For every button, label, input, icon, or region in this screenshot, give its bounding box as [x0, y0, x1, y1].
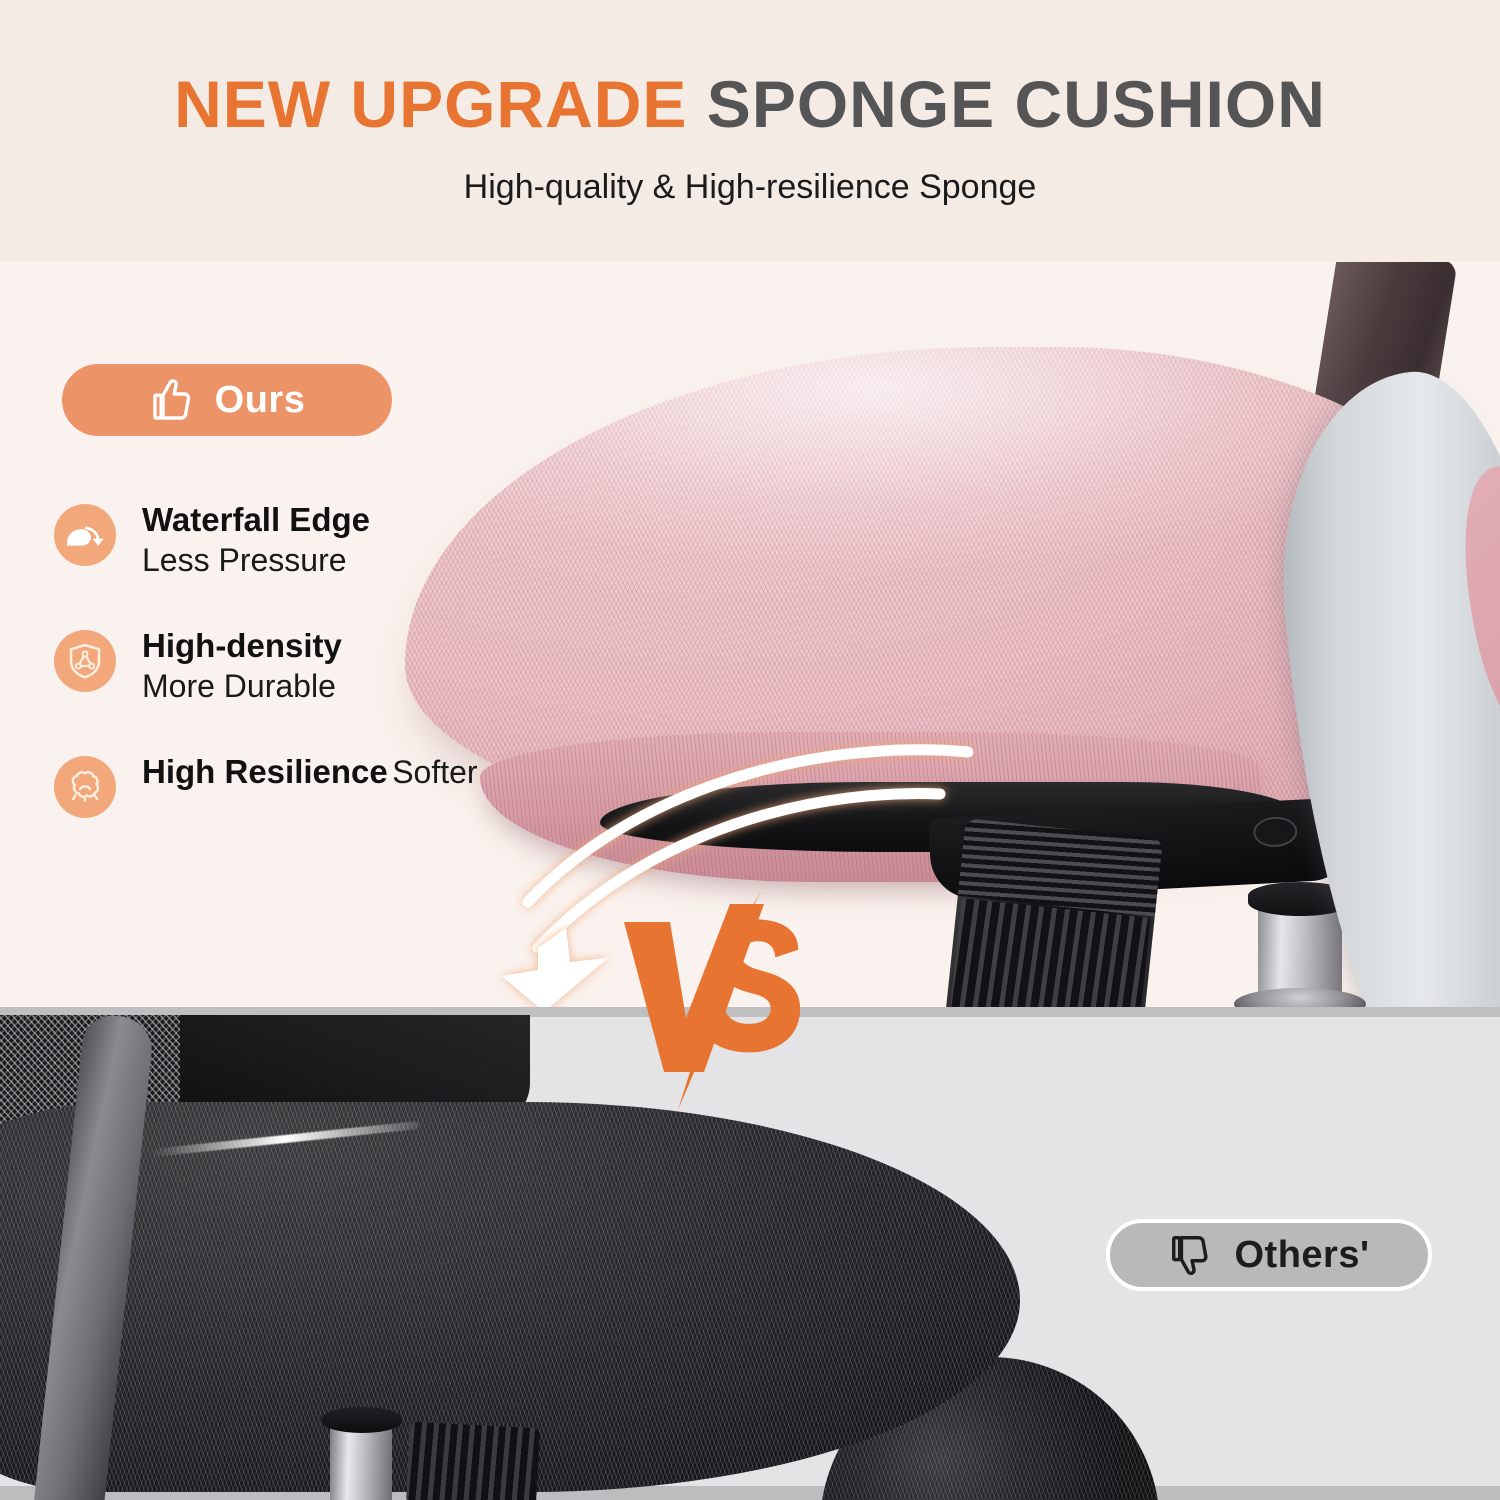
page-subtitle: High-quality & High-resilience Sponge: [0, 168, 1500, 207]
others-gas-cylinder: [330, 1422, 392, 1500]
page-title-rest: SPONGE CUSHION: [707, 67, 1326, 141]
others-badge-label: Others': [1234, 1234, 1369, 1277]
feature-title: High-density: [142, 627, 342, 664]
feature-text-group: High Resilience Softer: [142, 752, 478, 794]
page-title-accent: NEW UPGRADE: [174, 67, 687, 141]
page-title: NEW UPGRADE SPONGE CUSHION: [0, 66, 1500, 142]
others-adjust-knob: [406, 1422, 540, 1500]
mechanism-bolt: [1253, 816, 1299, 848]
ours-badge-label: Ours: [215, 379, 306, 422]
feature-title: High Resilience: [142, 753, 388, 790]
vs-lightning-icon: [612, 890, 842, 1110]
feature-item-high-resilience: High Resilience Softer: [54, 752, 524, 818]
others-badge: Others': [1106, 1219, 1432, 1291]
thumbs-up-icon: [149, 376, 197, 424]
header-band: NEW UPGRADE SPONGE CUSHION High-quality …: [0, 0, 1500, 262]
feature-item-waterfall-edge: Waterfall Edge Less Pressure: [54, 500, 524, 582]
ours-badge: Ours: [62, 364, 392, 436]
ours-feature-list: Waterfall Edge Less Pressure High-densit…: [54, 500, 524, 862]
feature-item-high-density: High-density More Durable: [54, 626, 524, 708]
feature-text-group: High-density More Durable: [142, 626, 524, 708]
waterfall-edge-icon: [54, 504, 116, 566]
gray-armrest: [1300, 372, 1500, 1007]
feature-subtitle: Softer: [392, 754, 477, 790]
shield-density-icon: [54, 630, 116, 692]
feature-subtitle: More Durable: [142, 668, 336, 704]
sponge-puff-icon: [54, 756, 116, 818]
feature-subtitle: Less Pressure: [142, 542, 347, 578]
others-cylinder-cap: [322, 1407, 402, 1433]
feature-title: Waterfall Edge: [142, 501, 370, 538]
feature-text-group: Waterfall Edge Less Pressure: [142, 500, 524, 582]
thumbs-down-icon: [1168, 1232, 1214, 1278]
